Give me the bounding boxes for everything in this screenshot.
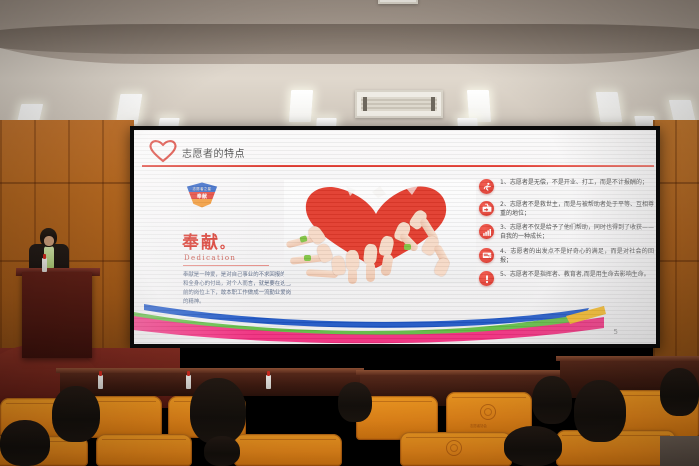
hand-arm bbox=[380, 253, 394, 276]
audience-desk-top bbox=[56, 368, 364, 373]
audience-head bbox=[504, 426, 562, 466]
podium bbox=[22, 272, 92, 358]
hand-cuff bbox=[404, 244, 411, 250]
bullet-text: 4、志愿者的出发点不是好奇心的满足，而是对社会的回报； bbox=[500, 247, 654, 265]
exclamation-icon bbox=[479, 271, 494, 286]
keyword-dot: 。 bbox=[220, 237, 235, 252]
audience-desk-top bbox=[556, 356, 699, 361]
keyword-text: 奉献 bbox=[182, 233, 220, 253]
handshake-give-icon bbox=[479, 201, 494, 216]
ceiling-light bbox=[289, 90, 313, 122]
audience-head bbox=[204, 436, 240, 466]
bullet-text: 5、志愿者不是指挥者、教育者,而是用生命去影响生命。 bbox=[500, 270, 650, 279]
water-bottle bbox=[266, 375, 271, 389]
bar-chart-icon bbox=[479, 224, 494, 239]
bullet-item: 4、志愿者的出发点不是好奇心的满足，而是对社会的回报； bbox=[479, 247, 654, 265]
bullet-item: 2、志愿者不是救世主，而是与被帮助者处于平等、互相尊重的地位； bbox=[479, 200, 654, 218]
audience-head bbox=[532, 376, 572, 424]
bullet-item: 1、志愿者是无偿，不是开业、打工，而是不计报酬的； bbox=[479, 178, 654, 194]
decorative-ribbons bbox=[134, 304, 656, 344]
slide-page-number: 5 bbox=[614, 328, 618, 336]
bullet-item: 5、志愿者不是指挥者、教育者,而是用生命去影响生命。 bbox=[479, 270, 654, 286]
hand-arm bbox=[348, 268, 357, 284]
water-bottle bbox=[98, 375, 103, 389]
water-bottle bbox=[186, 375, 191, 389]
slide-title: 志愿者的特点 bbox=[182, 145, 245, 160]
bullet-text: 1、志愿者是无偿，不是开业、打工，而是不计报酬的； bbox=[500, 178, 648, 187]
heart-outline-icon bbox=[148, 139, 178, 168]
ceiling-soffit-shadow bbox=[0, 24, 699, 54]
audience-seat bbox=[400, 432, 512, 466]
slide-header: 志愿者的特点 bbox=[134, 138, 656, 172]
volunteer-star-badge-icon: 志愿者之星 奉献 bbox=[184, 182, 220, 208]
hand-arm bbox=[366, 262, 375, 282]
document-card-icon bbox=[479, 248, 494, 263]
audience-head bbox=[574, 380, 626, 442]
badge-top-text: 志愿者之星 bbox=[184, 186, 220, 191]
audience-head bbox=[338, 382, 372, 422]
audience-head bbox=[190, 378, 246, 444]
projection-screen: 志愿者的特点 志愿者之星 奉献 奉献。 Dedication 奉献是一种爱，是对… bbox=[130, 126, 660, 348]
floor bbox=[660, 436, 699, 466]
hand bbox=[346, 250, 359, 270]
audience-head bbox=[52, 386, 100, 442]
badge-main-text: 奉献 bbox=[184, 193, 220, 200]
keyword-body-text: 奉献是一种爱，是对自己事业的不求回报的爱和全身心的付出，对个人而言，就是要在这当… bbox=[183, 271, 291, 307]
lecture-hall-scene: 志愿者的特点 志愿者之星 奉献 奉献。 Dedication 奉献是一种爱，是对… bbox=[0, 0, 699, 466]
seat-emblem-icon bbox=[446, 440, 462, 456]
presenter-face bbox=[44, 236, 54, 246]
ceiling-light bbox=[596, 92, 623, 122]
keyword-heading: 奉献。 bbox=[182, 228, 296, 253]
audience-head bbox=[0, 420, 50, 466]
bullet-text: 3、志愿者不仅是给予了他们帮助，同时也得到了收获——自我的一种成长； bbox=[500, 223, 654, 241]
slide-left-panel: 志愿者之星 奉献 奉献。 Dedication 奉献是一种爱，是对自己事业的不求… bbox=[178, 182, 296, 307]
presentation-slide: 志愿者的特点 志愿者之星 奉献 奉献。 Dedication 奉献是一种爱，是对… bbox=[134, 130, 656, 344]
audience-seat bbox=[234, 434, 342, 466]
title-divider bbox=[142, 165, 654, 167]
audience-seat bbox=[96, 434, 192, 466]
water-bottle bbox=[42, 258, 47, 272]
keyword-english: Dedication bbox=[184, 254, 296, 262]
hand-cuff bbox=[304, 255, 311, 261]
ceiling-ac-vent-icon bbox=[355, 90, 443, 118]
ceiling-ac-vent-small-icon bbox=[378, 0, 418, 4]
heart-hands-photo bbox=[284, 180, 476, 284]
seat-emblem-text: 志愿者协会 bbox=[470, 423, 487, 428]
slide-bullet-list: 1、志愿者是无偿，不是开业、打工，而是不计报酬的； 2、志愿者不是救世主，而是与… bbox=[479, 178, 654, 292]
bullet-item: 3、志愿者不仅是给予了他们帮助，同时也得到了收获——自我的一种成长； bbox=[479, 223, 654, 241]
bullet-text: 2、志愿者不是救世主，而是与被帮助者处于平等、互相尊重的地位； bbox=[500, 200, 654, 218]
audience-desk-top bbox=[356, 370, 564, 375]
running-person-icon bbox=[479, 179, 494, 194]
ceiling bbox=[0, 0, 699, 128]
keyword-divider bbox=[183, 265, 269, 266]
seat-emblem-icon bbox=[480, 404, 496, 420]
audience-head bbox=[660, 368, 699, 416]
